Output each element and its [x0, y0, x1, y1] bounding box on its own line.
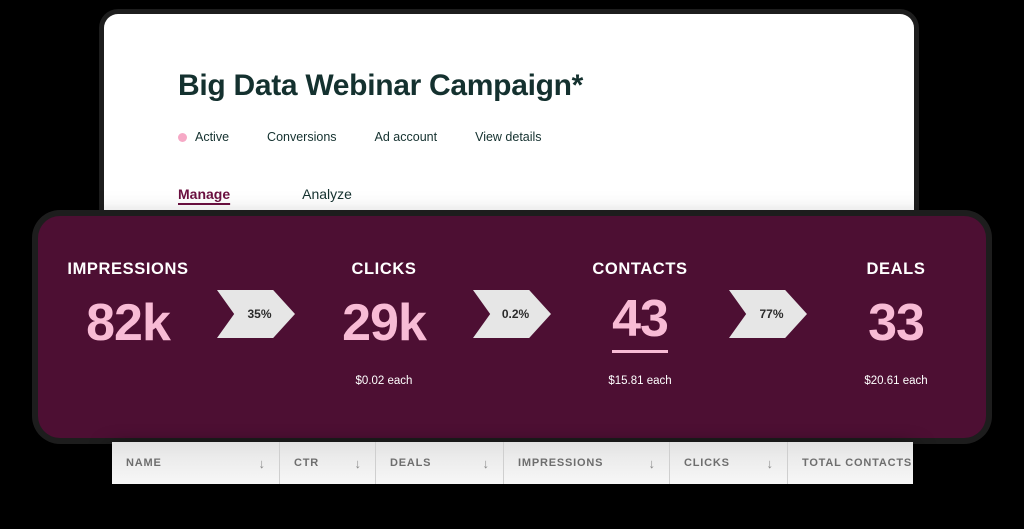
table-header-name[interactable]: NAME ↓	[112, 442, 280, 484]
campaign-meta-row: Active Conversions Ad account View detai…	[178, 130, 542, 144]
metric-value: 33	[868, 297, 924, 349]
metric-impressions: IMPRESSIONS 82k	[44, 260, 212, 389]
metric-value: 82k	[86, 297, 170, 349]
table-header-deals[interactable]: DEALS ↓	[376, 442, 504, 484]
sort-descending-icon[interactable]: ↓	[767, 456, 774, 471]
metric-label: CLICKS	[351, 260, 416, 279]
status-dot-icon	[178, 133, 187, 142]
conversion-rate-label: 0.2%	[502, 307, 529, 321]
metric-clicks: CLICKS 29k $0.02 each	[300, 260, 468, 389]
table-header-total-contacts[interactable]: TOTAL CONTACTS ↓	[788, 442, 913, 484]
metrics-row: IMPRESSIONS 82k 35% CLICKS 29k $0.02 eac…	[38, 260, 986, 389]
column-label: CTR	[294, 457, 319, 469]
sort-descending-icon[interactable]: ↓	[355, 456, 362, 471]
metric-value-wrap: 43	[612, 293, 668, 353]
chevron-arrow-icon: 77%	[729, 290, 807, 338]
column-label: CLICKS	[684, 457, 730, 469]
metric-label: DEALS	[867, 260, 926, 279]
column-label: NAME	[126, 457, 162, 469]
status-label: Active	[195, 130, 229, 144]
chevron-arrow-icon: 35%	[217, 290, 295, 338]
metric-label: IMPRESSIONS	[67, 260, 188, 279]
connector-contacts-to-deals: 77%	[724, 260, 812, 338]
chevron-arrow-icon: 0.2%	[473, 290, 551, 338]
metric-deals: DEALS 33 $20.61 each	[812, 260, 980, 389]
table-header-impressions[interactable]: IMPRESSIONS ↓	[504, 442, 670, 484]
tab-bar: Manage Analyze	[178, 186, 424, 202]
metric-value-wrap: 29k	[342, 293, 426, 353]
conversion-rate-label: 35%	[247, 307, 271, 321]
screenshot-stage: Big Data Webinar Campaign* Active Conver…	[0, 0, 1024, 529]
view-details-link[interactable]: View details	[475, 130, 541, 144]
metric-subtext: $15.81 each	[608, 375, 671, 389]
connector-clicks-to-contacts: 0.2%	[468, 260, 556, 338]
metric-subtext: $0.02 each	[356, 375, 413, 389]
metric-contacts: CONTACTS 43 $15.81 each	[556, 260, 724, 389]
column-label: TOTAL CONTACTS	[802, 457, 912, 469]
tab-analyze[interactable]: Analyze	[302, 186, 352, 202]
metric-value[interactable]: 43	[612, 293, 668, 353]
metric-value-wrap: 82k	[86, 293, 170, 353]
sort-descending-icon[interactable]: ↓	[259, 456, 266, 471]
status-badge: Active	[178, 130, 229, 144]
page-title: Big Data Webinar Campaign*	[178, 69, 583, 103]
metric-value-wrap: 33	[868, 293, 924, 353]
connector-impressions-to-clicks: 35%	[212, 260, 300, 338]
column-label: DEALS	[390, 457, 431, 469]
metric-value: 29k	[342, 297, 426, 349]
table-header-clicks[interactable]: CLICKS ↓	[670, 442, 788, 484]
column-label: IMPRESSIONS	[518, 457, 603, 469]
metric-label: CONTACTS	[592, 260, 687, 279]
tab-manage[interactable]: Manage	[178, 186, 230, 202]
sort-descending-icon[interactable]: ↓	[483, 456, 490, 471]
metrics-funnel-panel: IMPRESSIONS 82k 35% CLICKS 29k $0.02 eac…	[38, 216, 986, 438]
conversion-rate-label: 77%	[759, 307, 783, 321]
sort-descending-icon[interactable]: ↓	[649, 456, 656, 471]
campaign-table-header: NAME ↓ CTR ↓ DEALS ↓ IMPRESSIONS ↓ CLICK…	[112, 442, 913, 484]
campaign-objective-label: Conversions	[267, 130, 336, 144]
campaign-detail-card: Big Data Webinar Campaign* Active Conver…	[104, 14, 914, 220]
metric-subtext: $20.61 each	[864, 375, 927, 389]
table-header-ctr[interactable]: CTR ↓	[280, 442, 376, 484]
ad-account-link[interactable]: Ad account	[375, 130, 438, 144]
